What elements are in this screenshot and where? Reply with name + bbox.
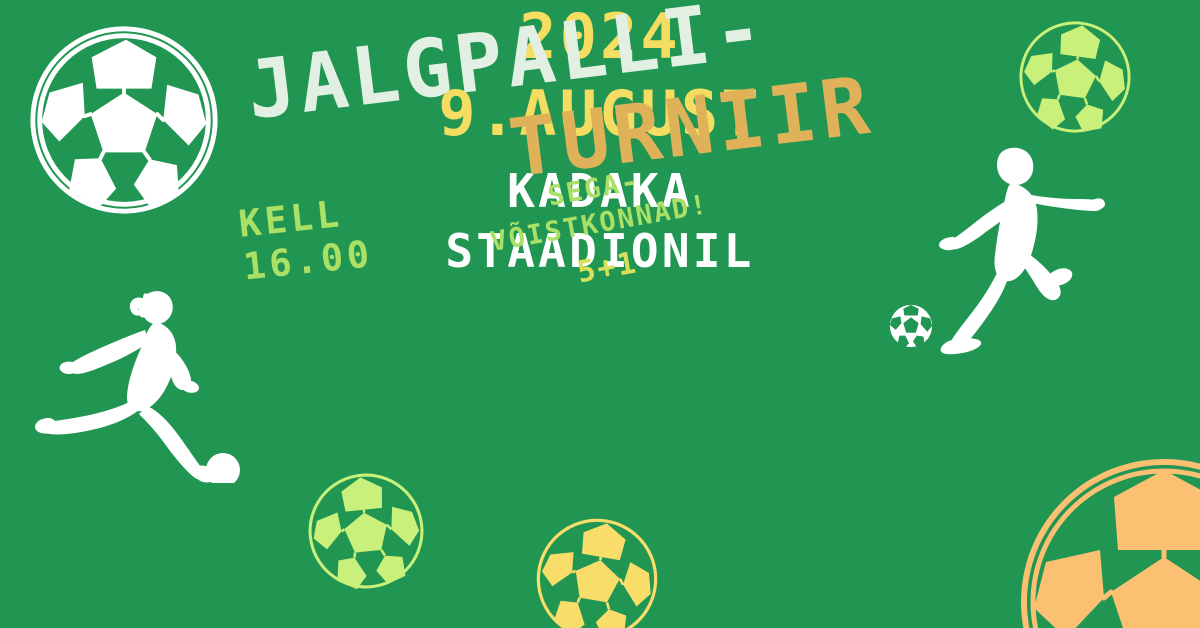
soccer-ball-bottom-left-icon [299, 464, 433, 598]
soccer-ball-bottom-right-icon [1014, 452, 1200, 628]
poster-canvas: JALGPALLI- TURNIIR KELL 16.00 2024 9.AUG… [0, 0, 1200, 628]
soccer-ball-bottom-center-icon [523, 505, 671, 628]
soccer-ball-top-left-icon [25, 22, 223, 218]
